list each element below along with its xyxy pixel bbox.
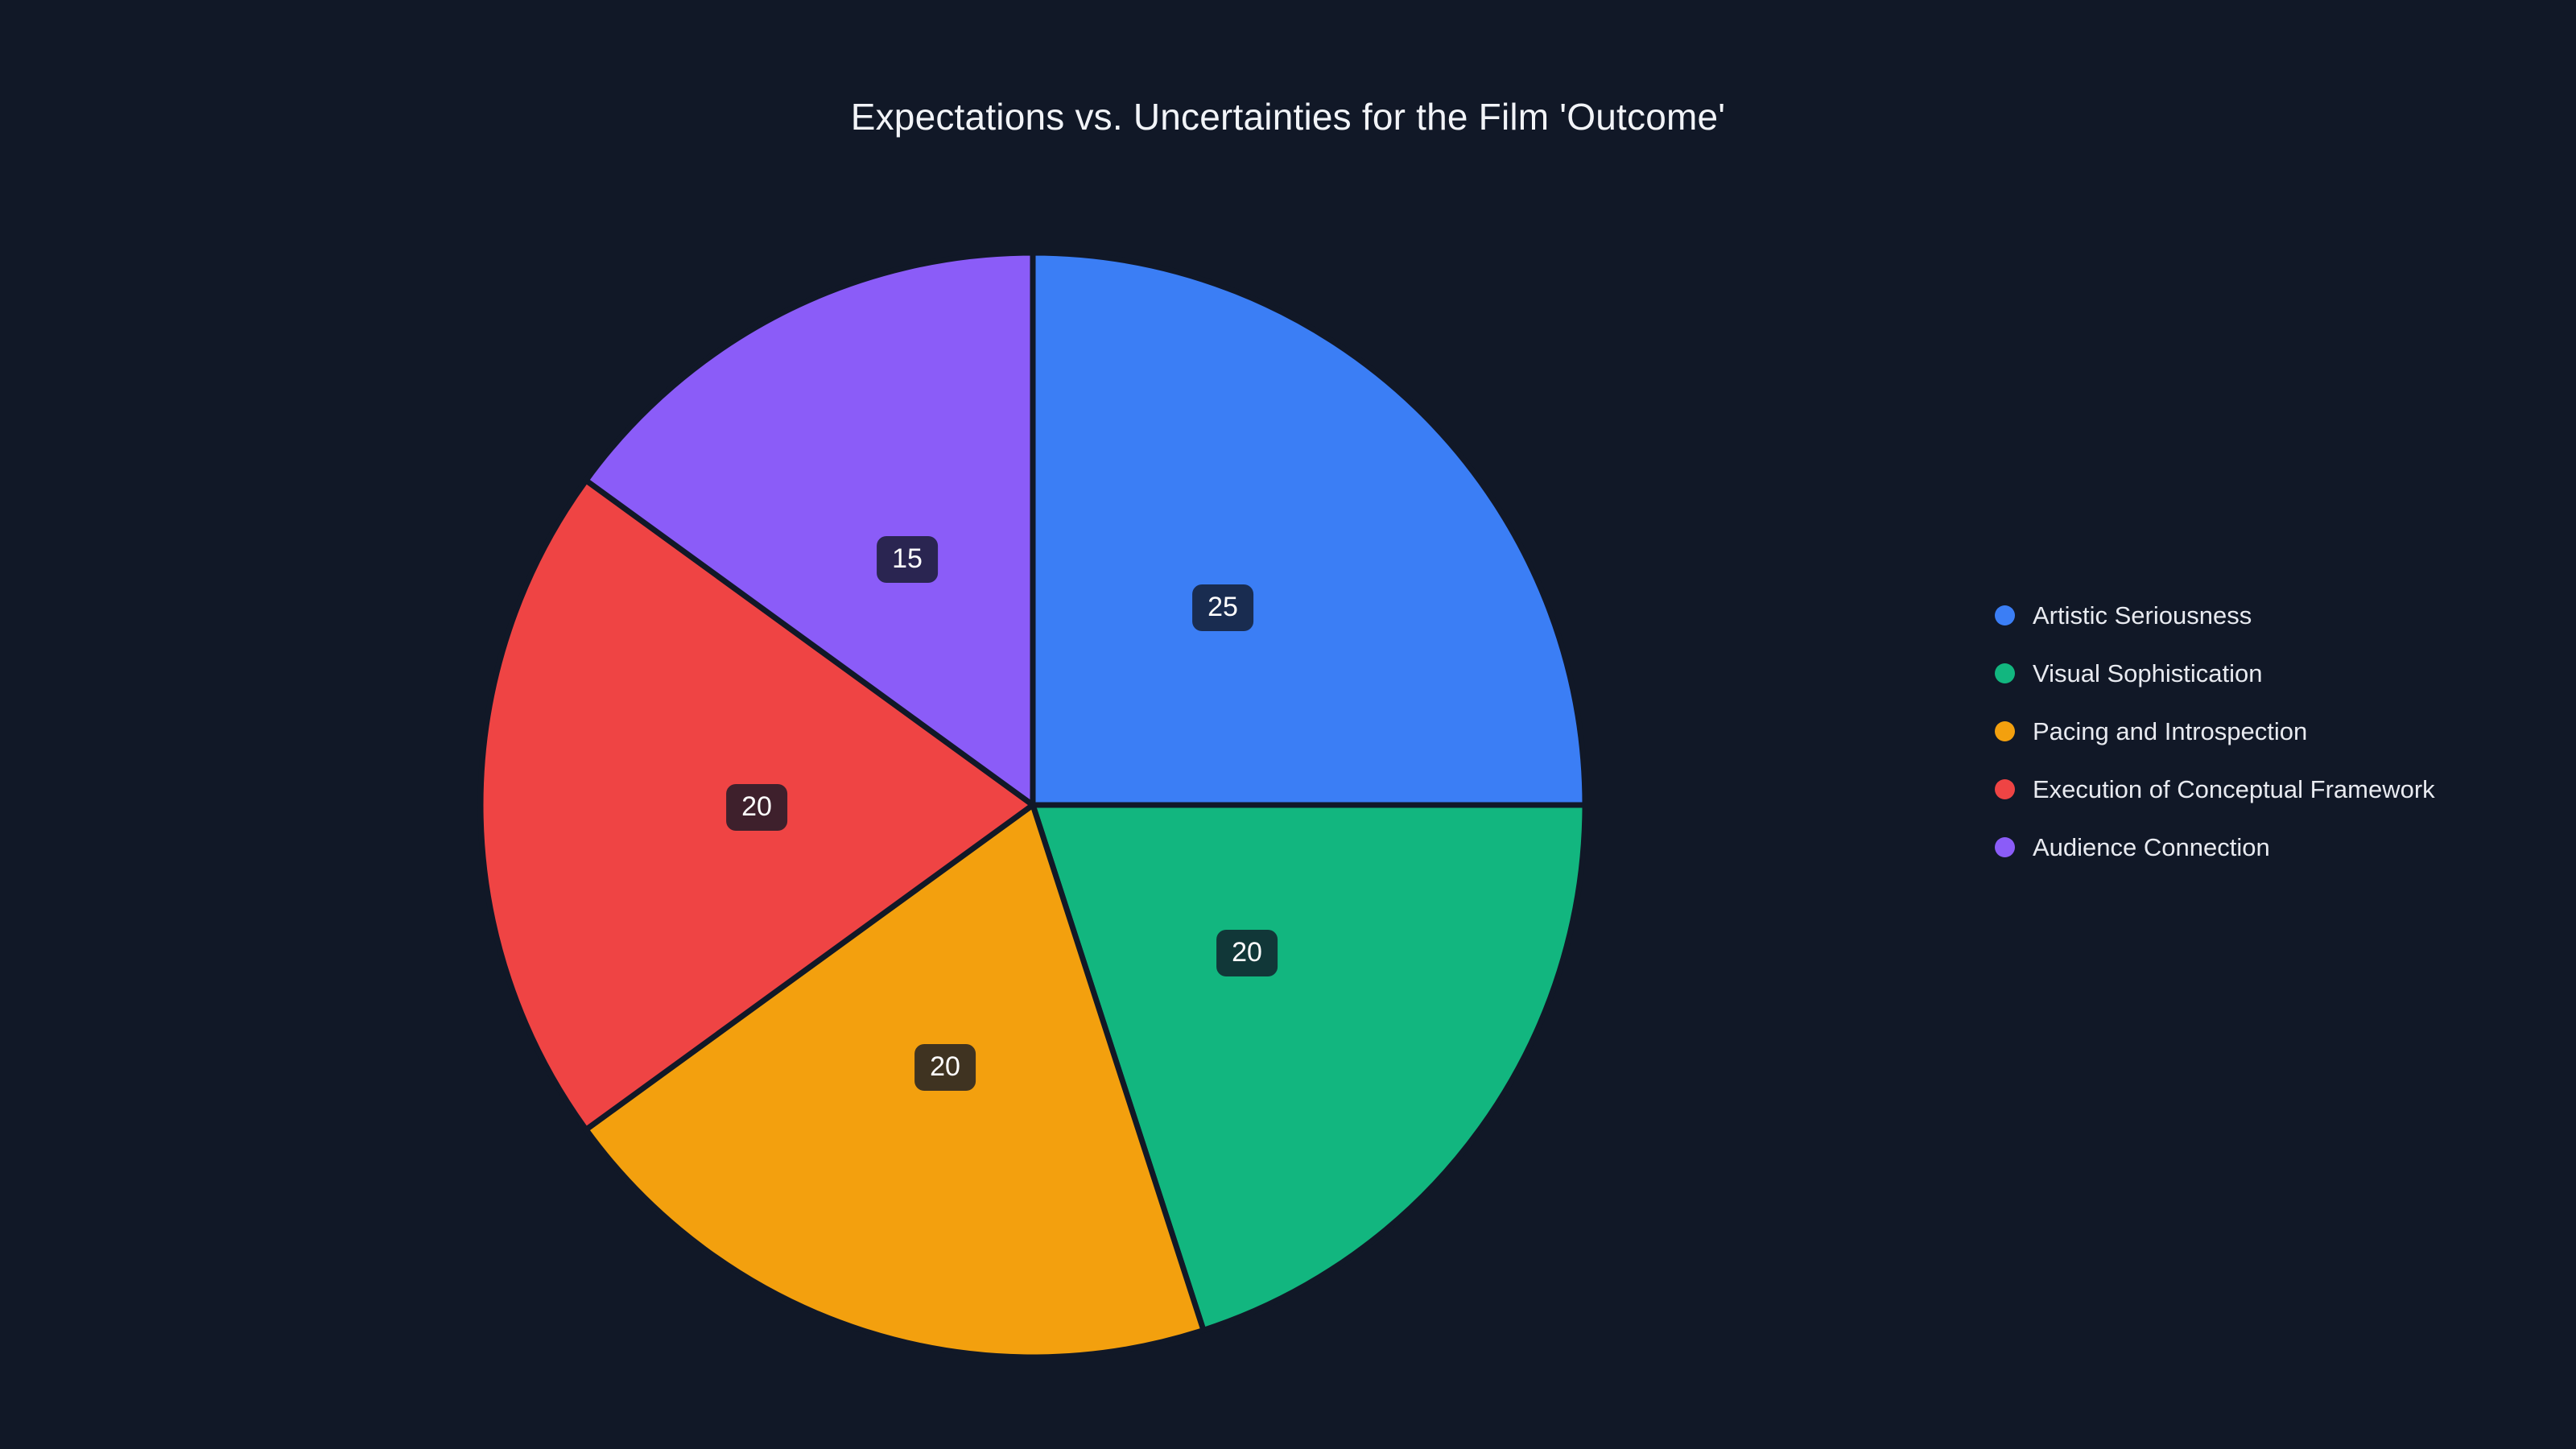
legend-item[interactable]: Artistic Seriousness bbox=[1995, 586, 2550, 644]
legend-item[interactable]: Pacing and Introspection bbox=[1995, 702, 2550, 760]
legend-dot-icon bbox=[1995, 721, 2015, 741]
pie-svg bbox=[469, 242, 1596, 1368]
legend-item[interactable]: Visual Sophistication bbox=[1995, 644, 2550, 702]
legend-dot-icon bbox=[1995, 779, 2015, 799]
page-title: Expectations vs. Uncertainties for the F… bbox=[0, 95, 2576, 138]
legend-item-label: Execution of Conceptual Framework bbox=[2033, 777, 2435, 802]
pie-slice[interactable] bbox=[1033, 253, 1585, 805]
legend-item[interactable]: Execution of Conceptual Framework bbox=[1995, 760, 2550, 818]
legend-dot-icon bbox=[1995, 663, 2015, 683]
pie-chart: 2520202015 bbox=[469, 242, 1596, 1368]
legend-dot-icon bbox=[1995, 837, 2015, 857]
legend-item-label: Artistic Seriousness bbox=[2033, 603, 2252, 628]
legend-item-label: Pacing and Introspection bbox=[2033, 719, 2307, 744]
legend-dot-icon bbox=[1995, 605, 2015, 625]
legend-item-label: Visual Sophistication bbox=[2033, 661, 2263, 686]
legend-item-label: Audience Connection bbox=[2033, 835, 2270, 860]
legend: Artistic SeriousnessVisual Sophisticatio… bbox=[1995, 586, 2550, 876]
pie-slices-group bbox=[481, 253, 1585, 1357]
chart-canvas: Expectations vs. Uncertainties for the F… bbox=[0, 0, 2576, 1449]
legend-item[interactable]: Audience Connection bbox=[1995, 818, 2550, 876]
